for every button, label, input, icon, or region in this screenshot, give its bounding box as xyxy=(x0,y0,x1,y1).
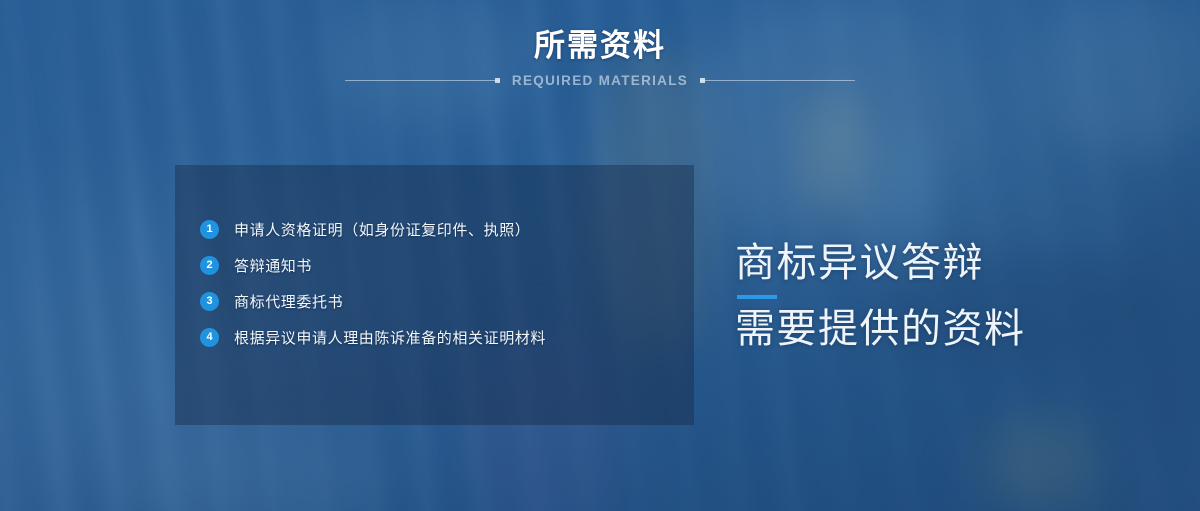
heading-line-1: 商标异议答辩 xyxy=(735,242,1155,285)
list-number-badge: 3 xyxy=(200,292,219,311)
page-subtitle: REQUIRED MATERIALS xyxy=(512,73,688,88)
rule-dot-icon xyxy=(700,78,705,83)
banner-header: 所需资料 REQUIRED MATERIALS xyxy=(0,0,1200,88)
list-item-label: 商标代理委托书 xyxy=(234,291,343,312)
subtitle-row: REQUIRED MATERIALS xyxy=(0,73,1200,88)
list-item-label: 答辩通知书 xyxy=(234,255,312,276)
list-number-badge: 2 xyxy=(200,256,219,275)
list-number-badge: 1 xyxy=(200,220,219,239)
heading-divider xyxy=(737,295,777,299)
heading-line-2: 需要提供的资料 xyxy=(735,308,1155,351)
list-item: 2 答辩通知书 xyxy=(200,247,676,283)
list-item-label: 申请人资格证明（如身份证复印件、执照） xyxy=(234,219,530,240)
list-item: 3 商标代理委托书 xyxy=(200,283,676,319)
rule-dot-icon xyxy=(495,78,500,83)
page-title: 所需资料 xyxy=(0,28,1200,64)
heading-block: 商标异议答辩 需要提供的资料 xyxy=(735,242,1155,351)
decorative-rule-right xyxy=(700,80,855,81)
required-materials-banner: 所需资料 REQUIRED MATERIALS 1 申请人资格证明（如身份证复印… xyxy=(0,0,1200,511)
list-item: 4 根据异议申请人理由陈诉准备的相关证明材料 xyxy=(200,319,676,355)
materials-panel: 1 申请人资格证明（如身份证复印件、执照） 2 答辩通知书 3 商标代理委托书 … xyxy=(175,165,694,425)
list-item: 1 申请人资格证明（如身份证复印件、执照） xyxy=(200,211,676,247)
decorative-rule-left xyxy=(345,80,500,81)
materials-list: 1 申请人资格证明（如身份证复印件、执照） 2 答辩通知书 3 商标代理委托书 … xyxy=(200,211,676,355)
list-item-label: 根据异议申请人理由陈诉准备的相关证明材料 xyxy=(234,327,546,348)
list-number-badge: 4 xyxy=(200,328,219,347)
